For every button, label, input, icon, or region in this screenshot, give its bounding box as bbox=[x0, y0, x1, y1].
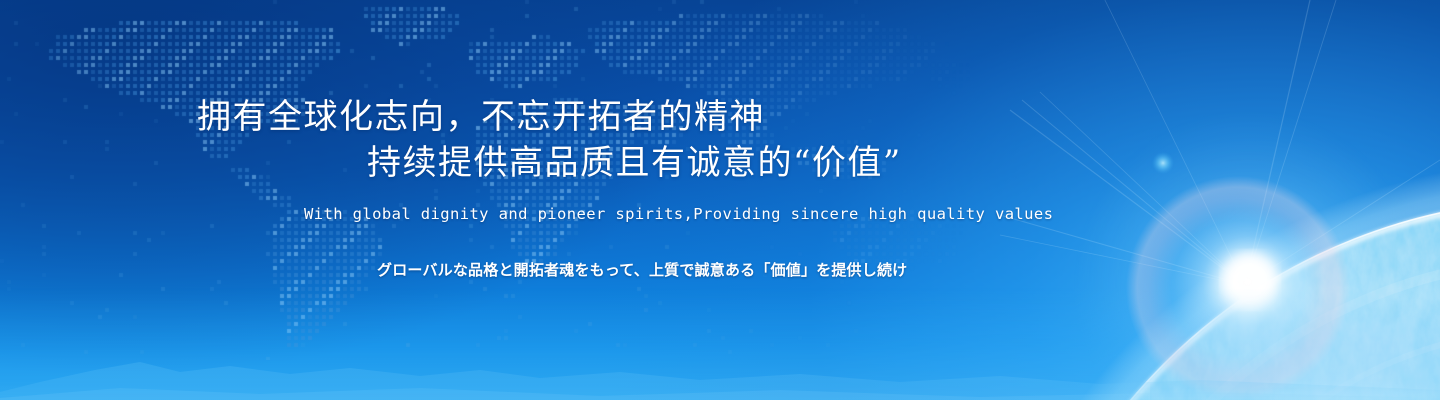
headline-chinese-line-1: 拥有全球化志向，不忘开拓者的精神 bbox=[197, 89, 765, 138]
subtitle-japanese: グローバルな品格と開拓者魂をもって、上質で誠意ある「価値」を提供し続け bbox=[377, 259, 907, 280]
headline-chinese-line-2: 持续提供高品质且有诚意的“价值” bbox=[367, 135, 902, 184]
subtitle-english: With global dignity and pioneer spirits,… bbox=[304, 205, 1053, 223]
hero-banner: 拥有全球化志向，不忘开拓者的精神 持续提供高品质且有诚意的“价值” With g… bbox=[0, 0, 1440, 400]
banner-text-block: 拥有全球化志向，不忘开拓者的精神 持续提供高品质且有诚意的“价值” With g… bbox=[0, 0, 1440, 400]
